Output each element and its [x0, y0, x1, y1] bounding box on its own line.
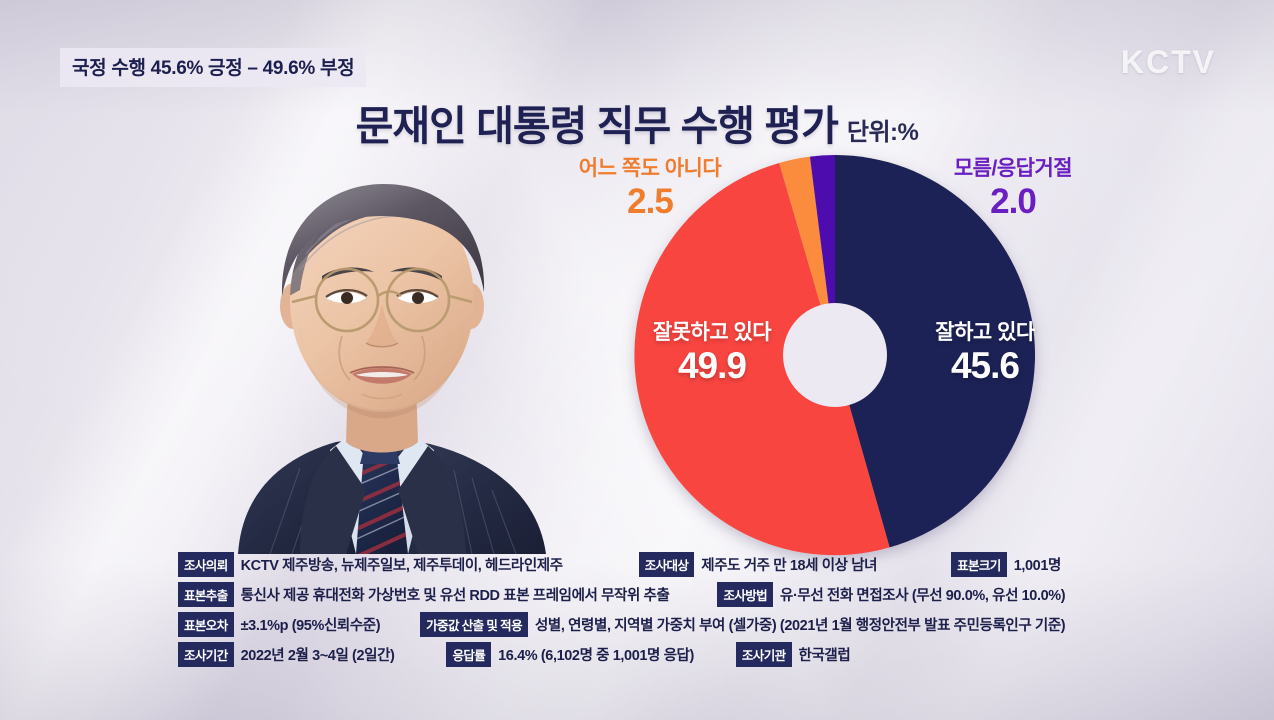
label-positive: 잘하고 있다 45.6 [885, 322, 1085, 386]
label-positive-value: 45.6 [885, 347, 1085, 386]
methodology-cell: 표본오차±3.1%p (95%신뢰수준) [178, 612, 380, 637]
methodology-value: ±3.1%p (95%신뢰수준) [241, 614, 381, 635]
methodology-key: 조사방법 [717, 582, 773, 607]
methodology-key: 가중값 산출 및 적용 [420, 612, 528, 637]
methodology-key: 조사대상 [639, 552, 695, 577]
methodology-value: 16.4% (6,102명 중 1,001명 응답) [498, 644, 694, 665]
label-neutral-title: 어느 쪽도 아니다 [540, 158, 760, 180]
label-noanswer-value: 2.0 [898, 184, 1128, 221]
label-neutral: 어느 쪽도 아니다 2.5 [540, 158, 760, 221]
label-negative: 잘못하고 있다 49.9 [612, 322, 812, 386]
methodology-row: 표본오차±3.1%p (95%신뢰수준)가중값 산출 및 적용성별, 연령별, … [178, 612, 1124, 637]
page-title: 문재인 대통령 직무 수행 평가단위:% [0, 92, 1274, 152]
methodology-value: 1,001명 [1014, 554, 1061, 575]
methodology-cell: 조사의뢰KCTV 제주방송, 뉴제주일보, 제주투데이, 헤드라인제주 [178, 552, 563, 577]
title-unit-text: 단위:% [847, 112, 919, 147]
pupil-right [412, 292, 424, 304]
methodology-key: 조사의뢰 [178, 552, 234, 577]
methodology-value: 한국갤럽 [799, 644, 851, 665]
methodology-cell: 표본추출통신사 제공 휴대전화 가상번호 및 유선 RDD 표본 프레임에서 무… [178, 582, 669, 607]
methodology-cell: 조사기관한국갤럽 [736, 642, 850, 667]
label-noanswer-title: 모름/응답거절 [898, 158, 1128, 180]
label-negative-value: 49.9 [612, 347, 812, 386]
methodology-cell: 가중값 산출 및 적용성별, 연령별, 지역별 가중치 부여 (셀가중) (20… [420, 612, 1065, 637]
methodology-cell: 응답률16.4% (6,102명 중 1,001명 응답) [446, 642, 693, 667]
methodology-value: 성별, 연령별, 지역별 가중치 부여 (셀가중) (2021년 1월 행정안전… [535, 614, 1065, 635]
methodology-key: 응답률 [446, 642, 491, 667]
methodology-key: 표본추출 [178, 582, 234, 607]
label-neutral-value: 2.5 [540, 184, 760, 221]
methodology-value: 제주도 거주 만 18세 이상 남녀 [701, 554, 877, 575]
label-positive-title: 잘하고 있다 [885, 322, 1085, 344]
methodology-row: 조사기간2022년 2월 3~4일 (2일간)응답률16.4% (6,102명 … [178, 642, 1124, 667]
methodology-value: 유·무선 전화 면접조사 (무선 90.0%, 유선 10.0%) [780, 584, 1065, 605]
methodology-value: 통신사 제공 휴대전화 가상번호 및 유선 RDD 표본 프레임에서 무작위 추… [241, 584, 670, 605]
methodology-key: 표본오차 [178, 612, 234, 637]
broadcast-graphic: KCTV 국정 수행 45.6% 긍정 – 49.6% 부정 문재인 대통령 직… [0, 0, 1274, 720]
methodology-value: 2022년 2월 3~4일 (2일간) [241, 644, 395, 665]
label-negative-title: 잘못하고 있다 [612, 322, 812, 344]
title-main-text: 문재인 대통령 직무 수행 평가 [356, 92, 838, 152]
kctv-logo-watermark: KCTV [1121, 44, 1216, 81]
methodology-cell: 조사기간2022년 2월 3~4일 (2일간) [178, 642, 394, 667]
methodology-row: 조사의뢰KCTV 제주방송, 뉴제주일보, 제주투데이, 헤드라인제주조사대상제… [178, 552, 1124, 577]
survey-methodology-table: 조사의뢰KCTV 제주방송, 뉴제주일보, 제주투데이, 헤드라인제주조사대상제… [0, 552, 1274, 672]
pupil-left [341, 292, 353, 304]
headline-banner: 국정 수행 45.6% 긍정 – 49.6% 부정 [60, 48, 366, 87]
methodology-key: 조사기간 [178, 642, 234, 667]
methodology-key: 표본크기 [951, 552, 1007, 577]
methodology-cell: 조사방법유·무선 전화 면접조사 (무선 90.0%, 유선 10.0%) [717, 582, 1065, 607]
methodology-cell: 표본크기1,001명 [951, 552, 1061, 577]
label-noanswer: 모름/응답거절 2.0 [898, 158, 1128, 221]
methodology-key: 조사기관 [736, 642, 792, 667]
methodology-row: 표본추출통신사 제공 휴대전화 가상번호 및 유선 RDD 표본 프레임에서 무… [178, 582, 1124, 607]
methodology-value: KCTV 제주방송, 뉴제주일보, 제주투데이, 헤드라인제주 [241, 554, 563, 575]
methodology-cell: 조사대상제주도 거주 만 18세 이상 남녀 [639, 552, 877, 577]
